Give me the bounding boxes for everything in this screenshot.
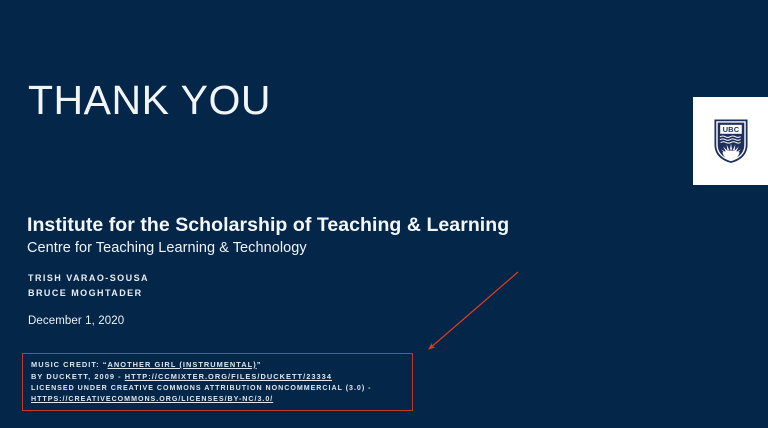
slide-canvas: THANK YOU Institute for the Scholarship … bbox=[0, 0, 768, 428]
organization-block: Institute for the Scholarship of Teachin… bbox=[27, 213, 547, 258]
credit-line-4: HTTPS://CREATIVECOMMONS.ORG/LICENSES/BY-… bbox=[31, 394, 412, 405]
credit-line-1: MUSIC CREDIT: “ANOTHER GIRL (INSTRUMENTA… bbox=[31, 359, 412, 371]
credit-artist: BY DUCKETT, 2009 - bbox=[31, 372, 125, 381]
presenter-name: BRUCE MOGHTADER bbox=[28, 286, 149, 301]
arrow-line bbox=[429, 272, 518, 349]
presentation-date: December 1, 2020 bbox=[28, 315, 124, 327]
presenter-list: TRISH VARAO-SOUSA BRUCE MOGHTADER bbox=[28, 271, 149, 302]
music-credit-box: MUSIC CREDIT: “ANOTHER GIRL (INSTRUMENTA… bbox=[22, 353, 413, 411]
credit-prefix: MUSIC CREDIT: “ bbox=[31, 360, 108, 369]
organization-unit: Centre for Teaching Learning & Technolog… bbox=[27, 239, 547, 258]
page-title: THANK YOU bbox=[28, 79, 271, 122]
ccmixter-link[interactable]: HTTP://CCMIXTER.ORG/FILES/DUCKETT/23334 bbox=[125, 372, 332, 381]
creative-commons-license-link[interactable]: HTTPS://CREATIVECOMMONS.ORG/LICENSES/BY-… bbox=[31, 395, 273, 403]
presenter-name: TRISH VARAO-SOUSA bbox=[28, 271, 149, 286]
credit-suffix: ” bbox=[257, 360, 262, 369]
ubc-logo-panel: UBC bbox=[693, 97, 768, 185]
ubc-crest-icon: UBC bbox=[713, 118, 749, 164]
organization-name: Institute for the Scholarship of Teachin… bbox=[27, 213, 547, 237]
svg-text:UBC: UBC bbox=[722, 125, 739, 134]
credit-line-3: LICENSED UNDER CREATIVE COMMONS ATTRIBUT… bbox=[31, 383, 412, 394]
annotation-arrow bbox=[415, 262, 530, 362]
credit-line-2: BY DUCKETT, 2009 - HTTP://CCMIXTER.ORG/F… bbox=[31, 371, 412, 383]
music-track-link[interactable]: ANOTHER GIRL (INSTRUMENTAL) bbox=[108, 360, 257, 369]
